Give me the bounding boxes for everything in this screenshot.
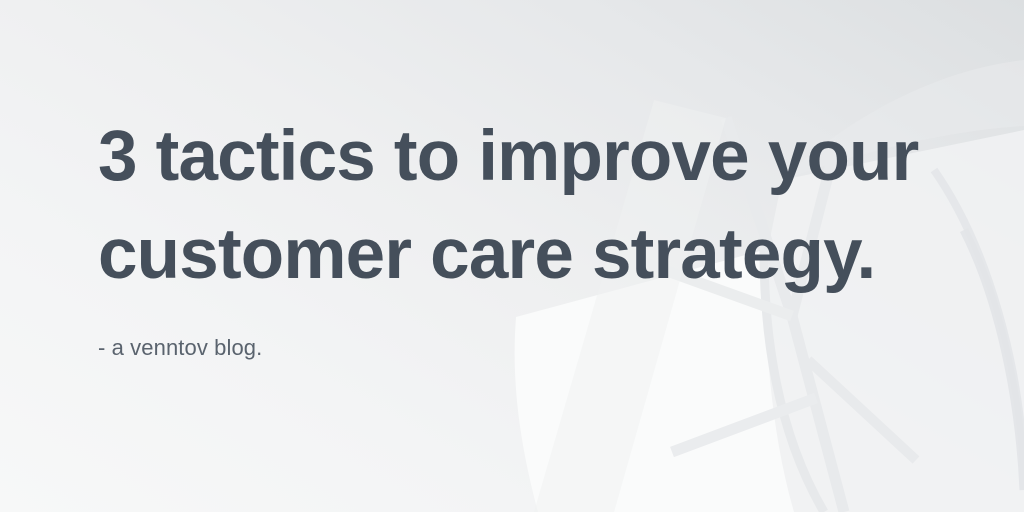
- leaf-vein-left-lower: [672, 398, 816, 452]
- banner-subtitle: - a venntov blog.: [98, 304, 928, 362]
- leaf-vein-right-lower: [808, 360, 916, 460]
- headline-line-2: customer care strategy.: [98, 206, 928, 304]
- headline-line-1: 3 tactics to improve your: [98, 108, 928, 206]
- leaf-outline-right: [964, 230, 1024, 490]
- blog-header-banner: 3 tactics to improve your customer care …: [0, 0, 1024, 512]
- banner-content: 3 tactics to improve your customer care …: [98, 108, 928, 362]
- page-title: 3 tactics to improve your customer care …: [98, 108, 928, 304]
- leaf-outline-outer: [934, 170, 1024, 470]
